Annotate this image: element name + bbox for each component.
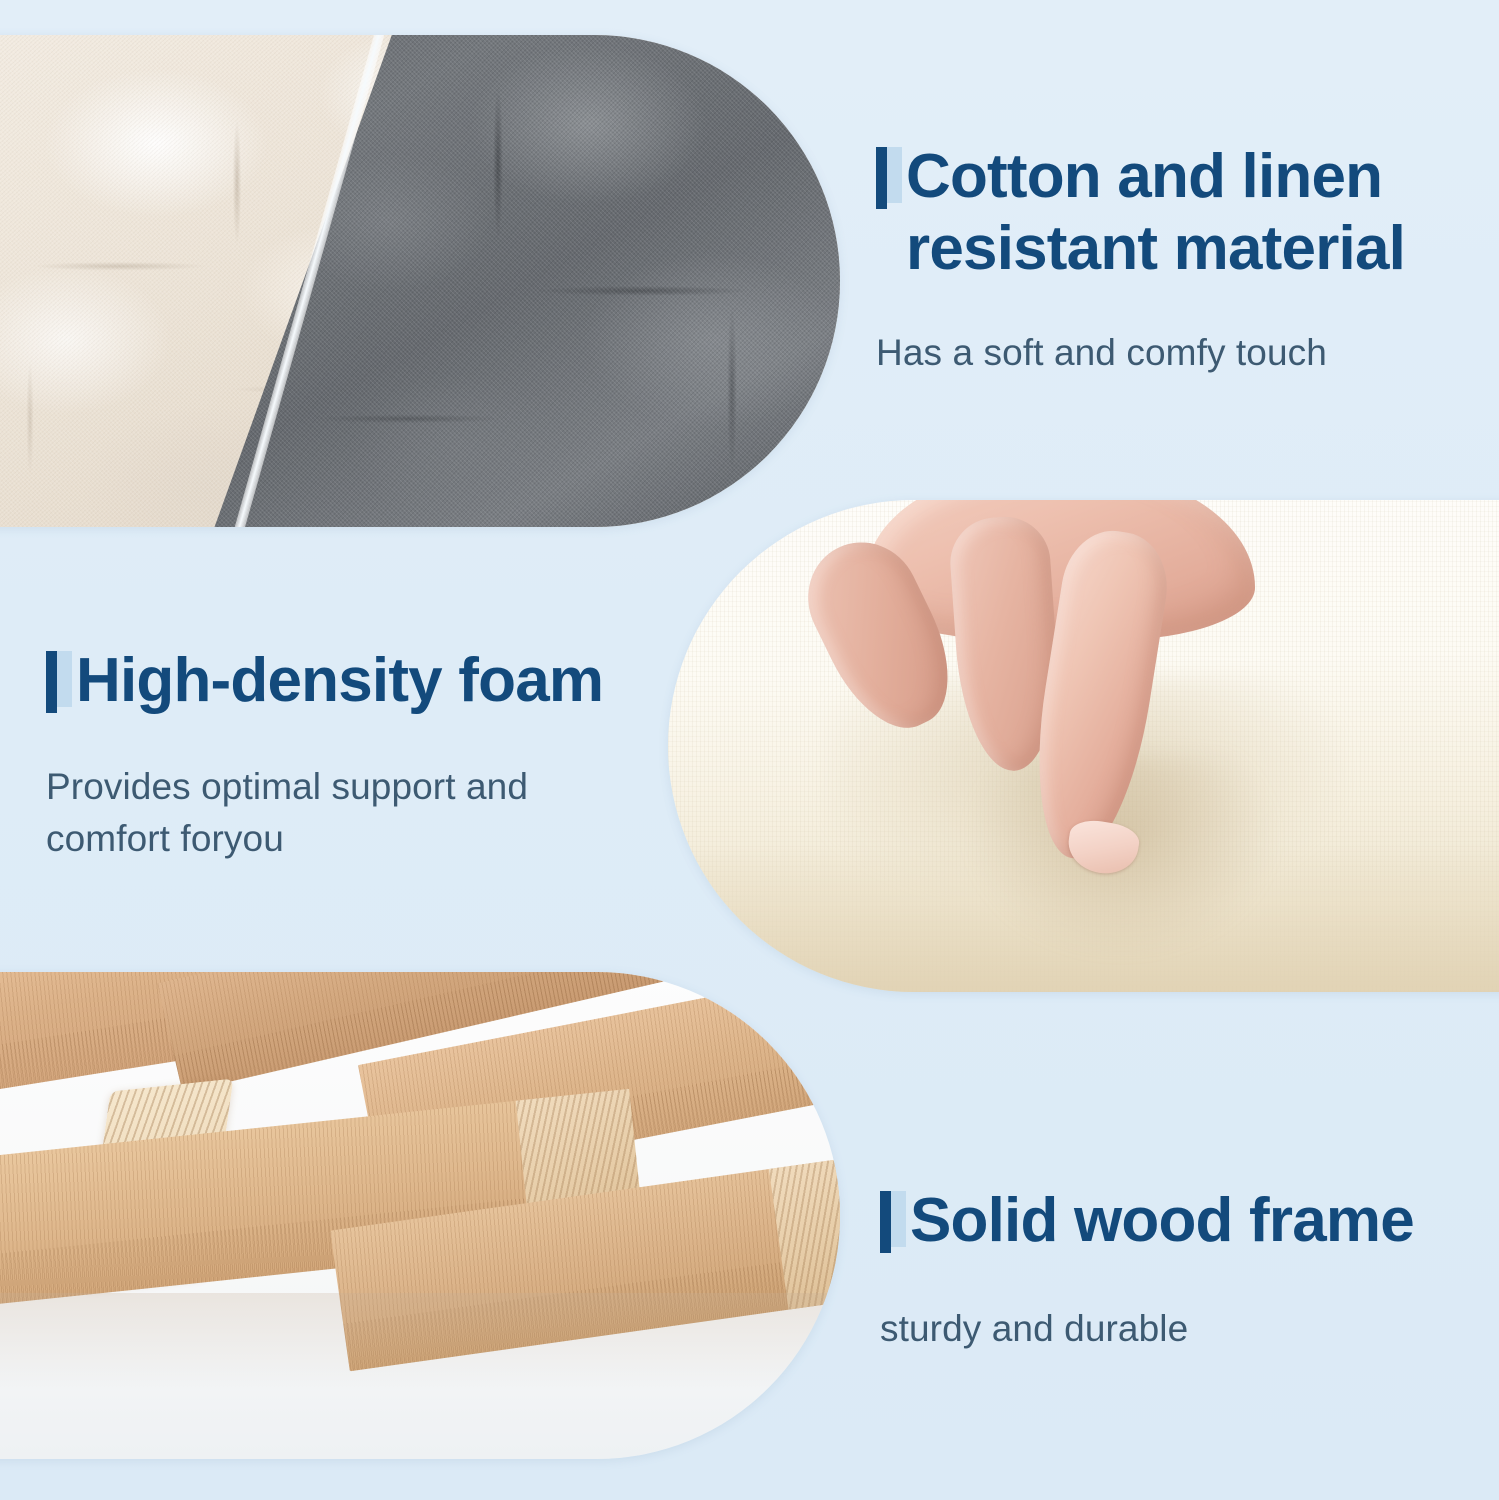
feature-subtitle-high-density-foam: Provides optimal support and comfort for… (46, 761, 646, 866)
hand (846, 500, 1344, 894)
feature-block-high-density-foam: High-density foam Provides optimal suppo… (46, 645, 646, 866)
fingernail (1064, 817, 1141, 878)
accent-bar-icon (880, 1191, 906, 1253)
accent-bar (880, 1191, 891, 1253)
accent-bar-icon (46, 651, 72, 713)
feature-subtitle-cotton-linen: Has a soft and comfy touch (876, 327, 1476, 380)
feature-subtitle-solid-wood-frame: sturdy and durable (880, 1303, 1470, 1356)
accent-bar (876, 147, 887, 209)
wood-floor-shadow (0, 1293, 840, 1459)
feature-heading-text: High-density foam (76, 645, 603, 717)
feature-heading-high-density-foam: High-density foam (46, 645, 646, 717)
wood-beams-image (0, 972, 840, 1459)
infographic-canvas: Cotton and linen resistant material Has … (0, 0, 1499, 1500)
fabric-swatch-image (0, 35, 840, 527)
feature-heading-text: Solid wood frame (910, 1185, 1414, 1257)
accent-bar (46, 651, 57, 713)
feature-heading-text: Cotton and linen resistant material (906, 141, 1476, 285)
feature-heading-cotton-linen: Cotton and linen resistant material (876, 141, 1476, 285)
accent-bar-icon (876, 147, 902, 209)
foam-press-image (668, 500, 1499, 992)
feature-heading-solid-wood-frame: Solid wood frame (880, 1185, 1470, 1257)
feature-block-cotton-linen: Cotton and linen resistant material Has … (876, 141, 1476, 379)
feature-block-solid-wood-frame: Solid wood frame sturdy and durable (880, 1185, 1470, 1355)
